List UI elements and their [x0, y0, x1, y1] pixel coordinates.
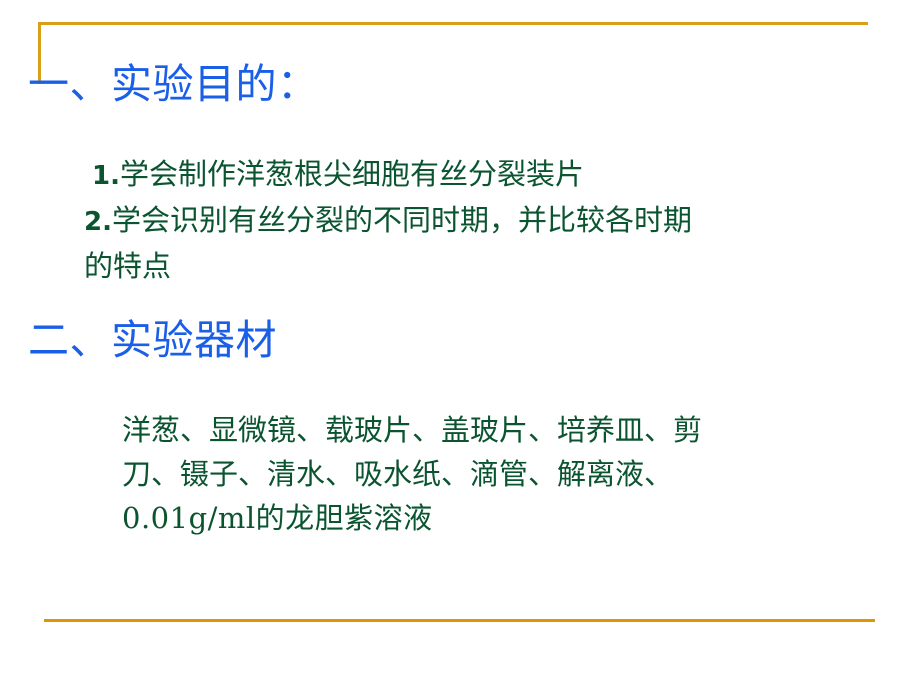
objective-item-2-continuation-text: 的特点 — [84, 249, 171, 283]
equipment-list: 洋葱、显微镜、载玻片、盖玻片、培养皿、剪 刀、镊子、清水、吸水纸、滴管、解离液、… — [122, 408, 862, 540]
objective-item-2-continuation: 的特点 — [84, 244, 884, 288]
section-heading-equipment: 二、实验器材 — [28, 318, 277, 362]
objective-item-2: 2.学会识别有丝分裂的不同时期，并比较各时期 — [84, 198, 884, 244]
objective-item-1-number: 1. — [92, 161, 120, 191]
objective-item-2-number: 2. — [84, 207, 112, 237]
objective-item-1-text: 学会制作洋葱根尖细胞有丝分裂装片 — [120, 157, 584, 191]
equipment-line-1: 洋葱、显微镜、载玻片、盖玻片、培养皿、剪 — [122, 408, 862, 452]
equipment-line-2: 刀、镊子、清水、吸水纸、滴管、解离液、 — [122, 452, 862, 496]
equipment-line-3: 0.01g/ml的龙胆紫溶液 — [122, 496, 862, 540]
slide-canvas: 一、实验目的： 1.学会制作洋葱根尖细胞有丝分裂装片 2.学会识别有丝分裂的不同… — [0, 0, 920, 690]
objective-item-1: 1.学会制作洋葱根尖细胞有丝分裂装片 — [92, 152, 884, 198]
objective-list: 1.学会制作洋葱根尖细胞有丝分裂装片 2.学会识别有丝分裂的不同时期，并比较各时… — [84, 152, 884, 288]
gold-rule-bottom — [44, 619, 875, 622]
objective-item-2-text: 学会识别有丝分裂的不同时期，并比较各时期 — [112, 203, 692, 237]
section-heading-objective: 一、实验目的： — [28, 62, 319, 106]
gold-rule-top — [38, 22, 868, 25]
